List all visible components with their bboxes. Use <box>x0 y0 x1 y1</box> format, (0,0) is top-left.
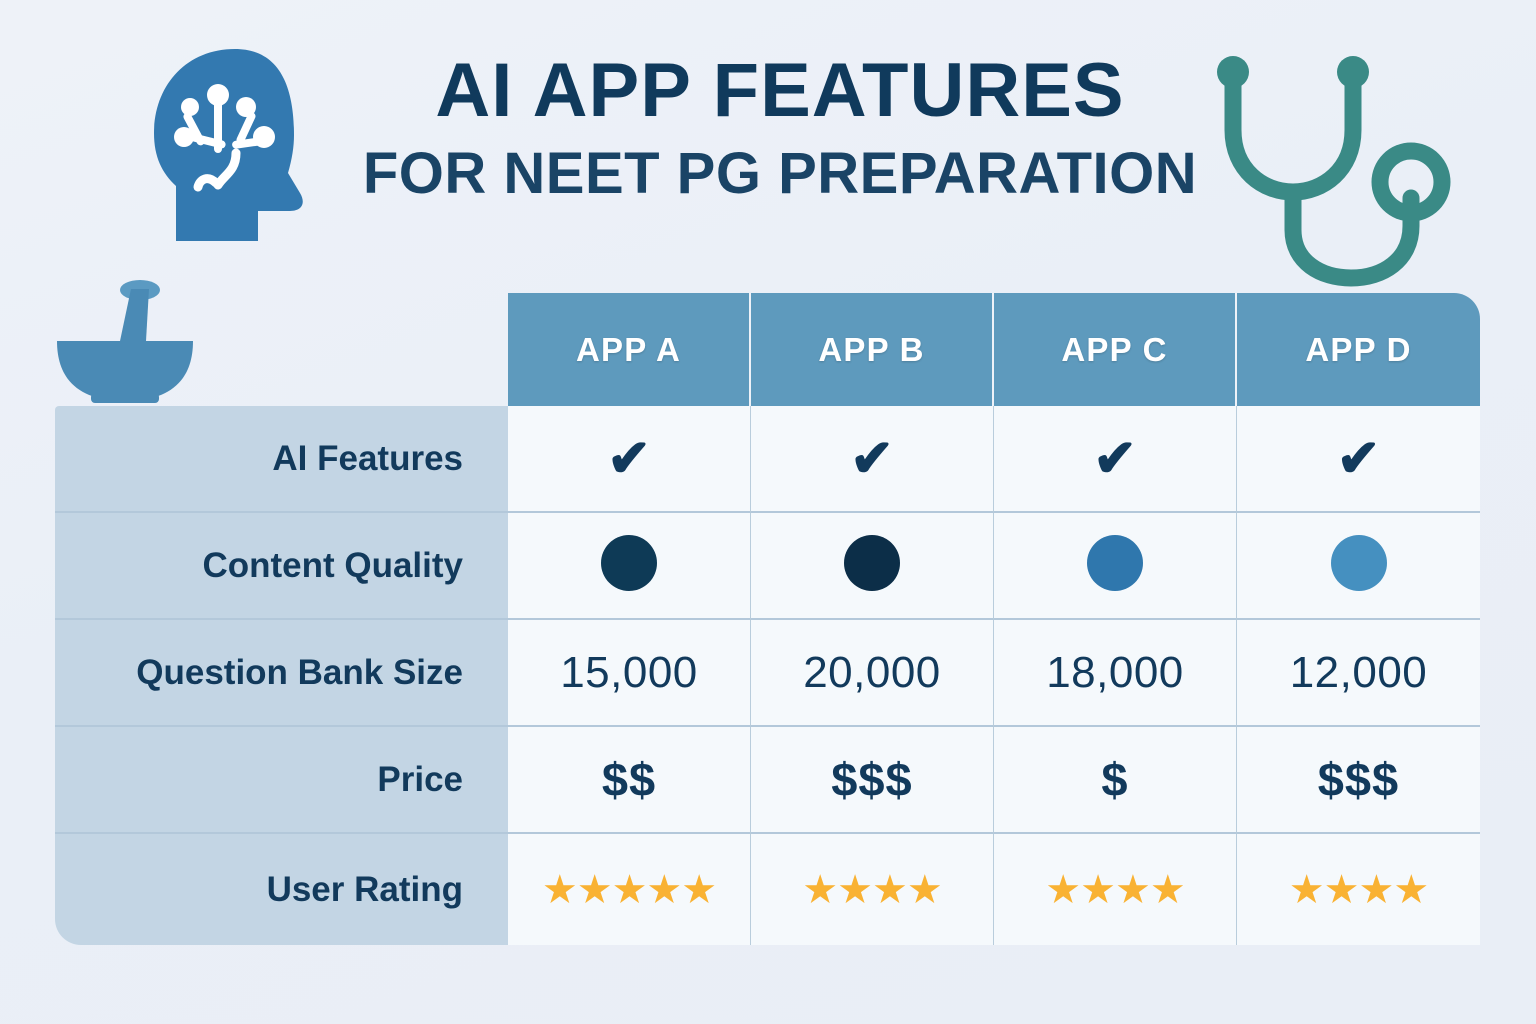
cell-price-app-d: $$$ <box>1237 727 1480 834</box>
cell-price-app-b: $$$ <box>751 727 994 834</box>
row-label-user-rating: User Rating <box>55 834 508 945</box>
infographic-page: AI APP FEATURES FOR NEET PG PREPARATION <box>0 0 1536 1024</box>
column-header-app-b[interactable]: APP B <box>751 293 994 406</box>
ai-brain-head-icon <box>140 45 330 245</box>
cell-question-bank-app-c: 18,000 <box>994 620 1237 727</box>
row-label-question-bank-size: Question Bank Size <box>55 620 508 727</box>
page-subtitle: FOR NEET PG PREPARATION <box>340 142 1220 206</box>
cell-user-rating-app-d: ★★★★ <box>1237 834 1480 945</box>
check-icon: ✔ <box>850 433 894 485</box>
question-bank-value: 12,000 <box>1290 648 1428 697</box>
quality-dot-icon <box>1087 535 1143 591</box>
price-value: $ <box>1101 753 1128 806</box>
column-header-app-a[interactable]: APP A <box>508 293 751 406</box>
table-header-row: APP A APP B APP C APP D <box>55 293 1480 406</box>
table-row: Price $$ $$$ $ $$$ <box>55 727 1480 834</box>
title-block: AI APP FEATURES FOR NEET PG PREPARATION <box>340 52 1220 205</box>
column-header-app-d[interactable]: APP D <box>1237 293 1480 406</box>
question-bank-value: 18,000 <box>1046 648 1184 697</box>
cell-content-quality-app-d <box>1237 513 1480 620</box>
page-title: AI APP FEATURES <box>340 52 1220 130</box>
cell-ai-features-app-c: ✔ <box>994 406 1237 513</box>
star-rating-icon: ★★★★ <box>1289 868 1428 912</box>
cell-content-quality-app-b <box>751 513 994 620</box>
cell-ai-features-app-b: ✔ <box>751 406 994 513</box>
quality-dot-icon <box>601 535 657 591</box>
cell-ai-features-app-d: ✔ <box>1237 406 1480 513</box>
table-row: User Rating ★★★★★ ★★★★ ★★★★ ★★★★ <box>55 834 1480 945</box>
cell-user-rating-app-b: ★★★★ <box>751 834 994 945</box>
column-header-app-c[interactable]: APP C <box>994 293 1237 406</box>
stethoscope-icon <box>1205 30 1475 290</box>
quality-dot-icon <box>844 535 900 591</box>
table-header: APP A APP B APP C APP D <box>55 293 1480 406</box>
row-label-price: Price <box>55 727 508 834</box>
cell-price-app-c: $ <box>994 727 1237 834</box>
table-row: AI Features ✔ ✔ ✔ ✔ <box>55 406 1480 513</box>
question-bank-value: 20,000 <box>803 648 941 697</box>
cell-price-app-a: $$ <box>508 727 751 834</box>
table-corner-cell <box>55 293 508 406</box>
price-value: $$$ <box>1318 753 1399 806</box>
row-label-ai-features: AI Features <box>55 406 508 513</box>
comparison-table-wrapper: APP A APP B APP C APP D AI Features ✔ ✔ <box>55 293 1480 948</box>
check-icon: ✔ <box>1093 433 1137 485</box>
header-section: AI APP FEATURES FOR NEET PG PREPARATION <box>0 0 1536 280</box>
quality-dot-icon <box>1331 535 1387 591</box>
price-value: $$$ <box>831 753 912 806</box>
star-rating-icon: ★★★★★ <box>542 868 716 912</box>
row-label-content-quality: Content Quality <box>55 513 508 620</box>
comparison-table: APP A APP B APP C APP D AI Features ✔ ✔ <box>55 293 1480 945</box>
table-row: Question Bank Size 15,000 20,000 18,000 … <box>55 620 1480 727</box>
price-value: $$ <box>602 753 656 806</box>
cell-question-bank-app-a: 15,000 <box>508 620 751 727</box>
cell-question-bank-app-b: 20,000 <box>751 620 994 727</box>
cell-user-rating-app-c: ★★★★ <box>994 834 1237 945</box>
cell-ai-features-app-a: ✔ <box>508 406 751 513</box>
cell-content-quality-app-c <box>994 513 1237 620</box>
table-body: AI Features ✔ ✔ ✔ ✔ Conten <box>55 406 1480 945</box>
star-rating-icon: ★★★★ <box>1045 868 1184 912</box>
cell-question-bank-app-d: 12,000 <box>1237 620 1480 727</box>
star-rating-icon: ★★★★ <box>802 868 941 912</box>
question-bank-value: 15,000 <box>560 648 698 697</box>
cell-content-quality-app-a <box>508 513 751 620</box>
check-icon: ✔ <box>1337 433 1381 485</box>
check-icon: ✔ <box>607 433 651 485</box>
cell-user-rating-app-a: ★★★★★ <box>508 834 751 945</box>
table-row: Content Quality <box>55 513 1480 620</box>
